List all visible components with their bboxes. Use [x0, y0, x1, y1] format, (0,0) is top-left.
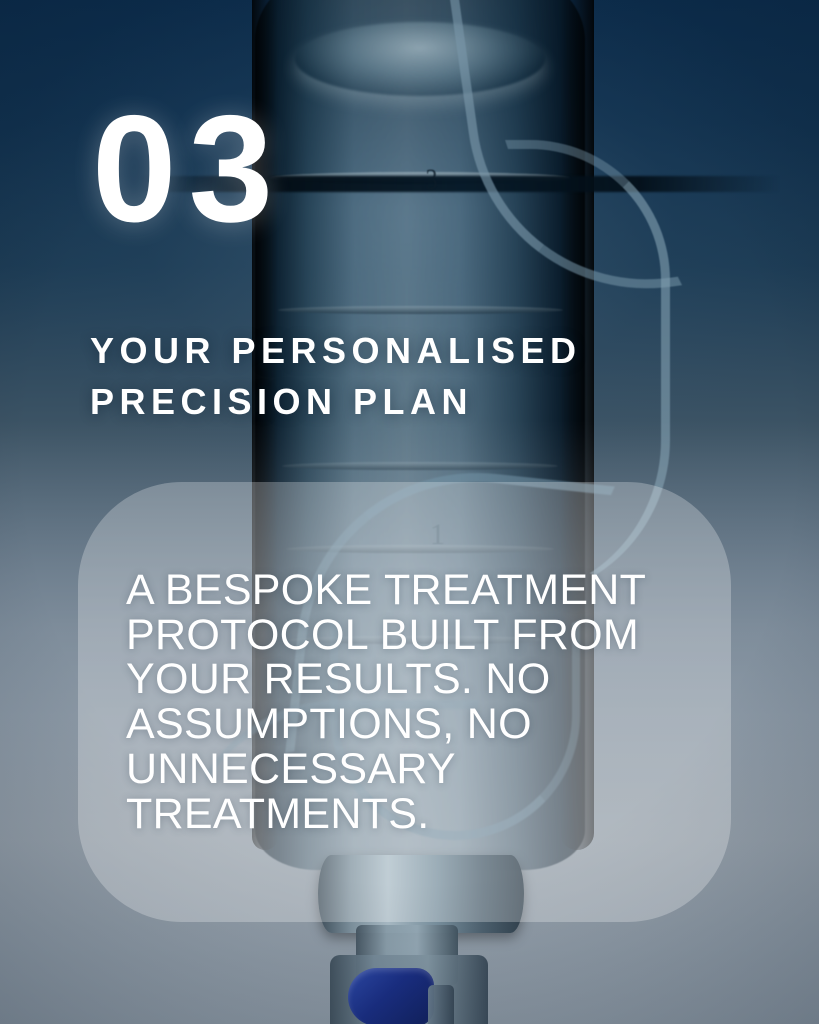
page-title: YOUR PERSONALISED PRECISION PLAN: [90, 325, 740, 427]
body-copy: A BESPOKE TREATMENT PROTOCOL BUILT FROM …: [126, 568, 704, 836]
step-number: 03: [92, 93, 285, 245]
content-layer: 03 YOUR PERSONALISED PRECISION PLAN A BE…: [0, 0, 819, 1024]
slide-root: 3 1 03 YOUR PERSONALISED PRECISION PLAN …: [0, 0, 819, 1024]
